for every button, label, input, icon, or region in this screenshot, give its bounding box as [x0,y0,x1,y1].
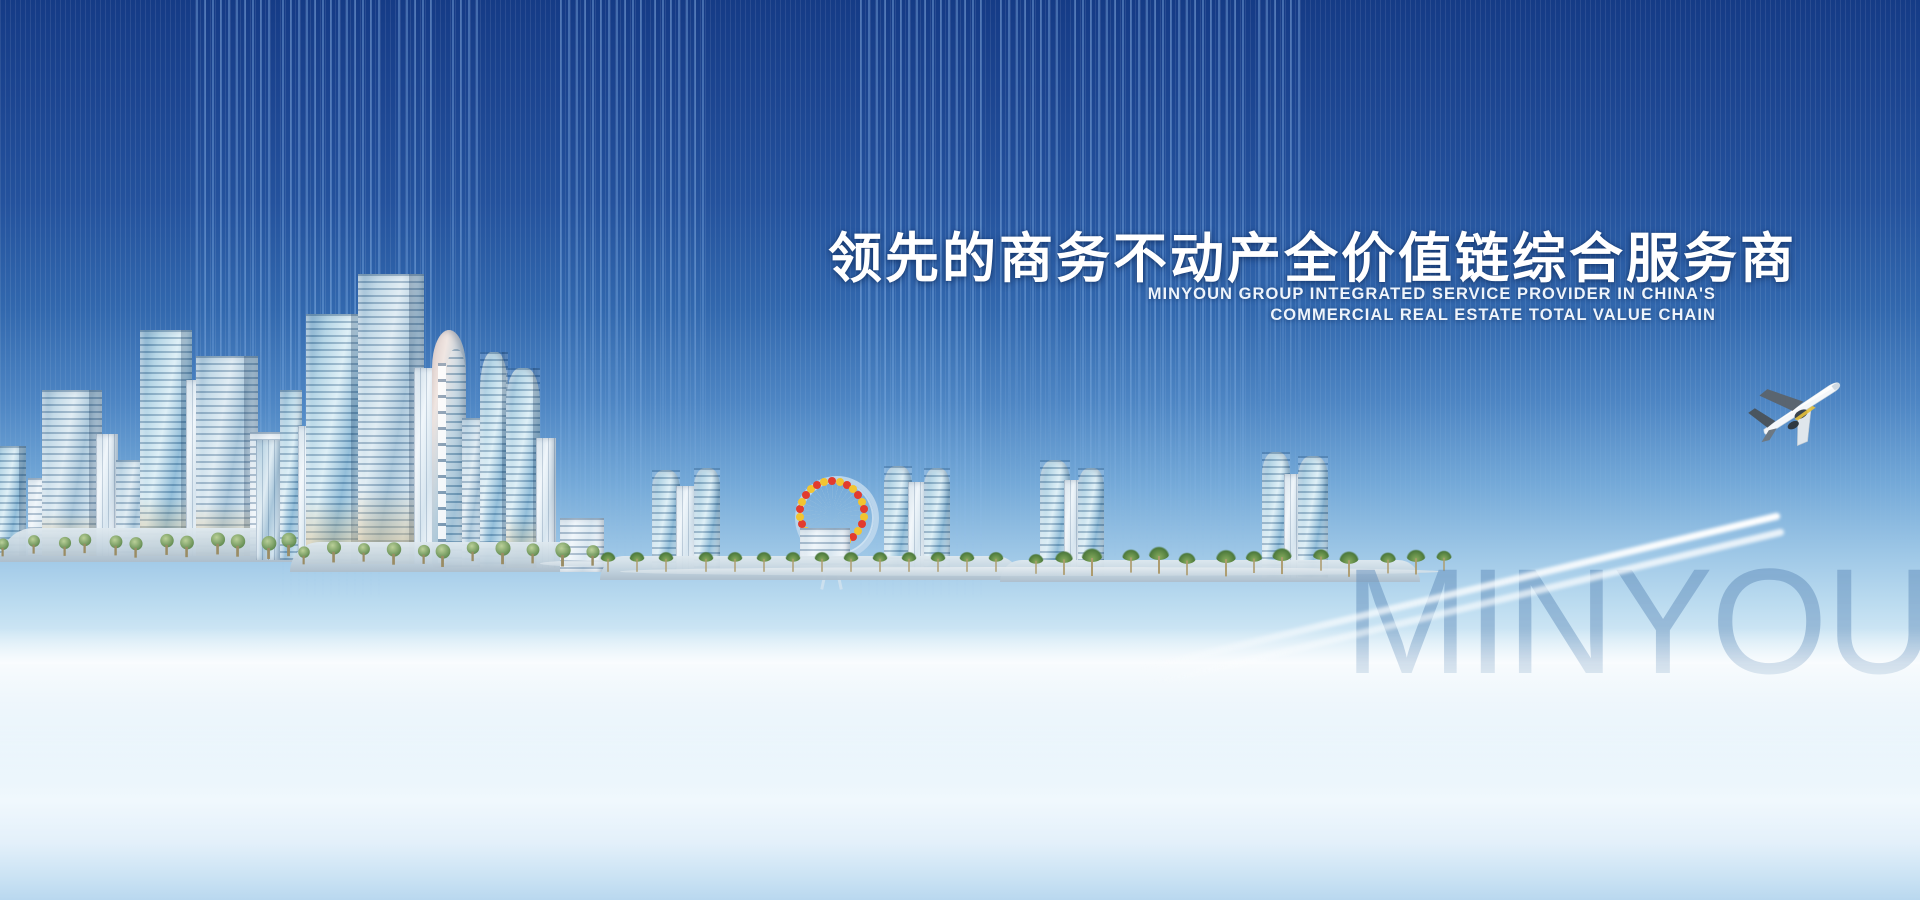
tree [467,541,479,561]
subtitle-line-2: COMMERCIAL REAL ESTATE TOTAL VALUE CHAIN [828,306,1716,325]
palm-tree [1055,549,1074,575]
palm-tree [727,550,743,572]
tree [0,538,9,557]
tree [231,533,245,556]
page-title: 领先的商务不动产全价值链综合服务商 [828,214,1797,293]
tree [281,532,296,556]
tree [180,535,194,557]
palm-tree [901,550,917,572]
tree [211,532,225,555]
airplane-group [1120,360,1920,620]
tree [262,535,277,559]
tree [418,544,430,564]
palm-tree [930,550,946,572]
palm-tree [698,550,714,572]
subtitle-line-1: MINYOUN GROUP INTEGRATED SERVICE PROVIDE… [828,285,1716,304]
hero-banner: MINYOUN [0,0,1920,900]
tree [129,536,142,557]
palm-tree [872,550,888,572]
tree [28,534,40,553]
tree [527,543,540,564]
palm-tree [1028,552,1044,574]
palm-tree [629,550,645,572]
airplane-icon [1740,358,1860,458]
palm-tree [959,550,975,572]
tree [160,533,173,555]
tree [327,540,341,563]
palm-tree [756,550,772,572]
tree [436,543,451,567]
palm-tree [658,550,674,572]
tree [298,546,310,565]
tree [387,541,401,564]
palm-tree [600,550,616,572]
tree [79,533,91,553]
palm-tree [785,550,801,572]
tree [555,542,570,567]
palm-tree [814,550,830,572]
tree [110,535,123,556]
tree [495,540,510,564]
tree [586,544,599,565]
tree [358,542,370,561]
tree [59,536,71,556]
palm-tree [1081,546,1103,576]
palm-tree [843,550,859,572]
palm-tree [988,550,1004,572]
